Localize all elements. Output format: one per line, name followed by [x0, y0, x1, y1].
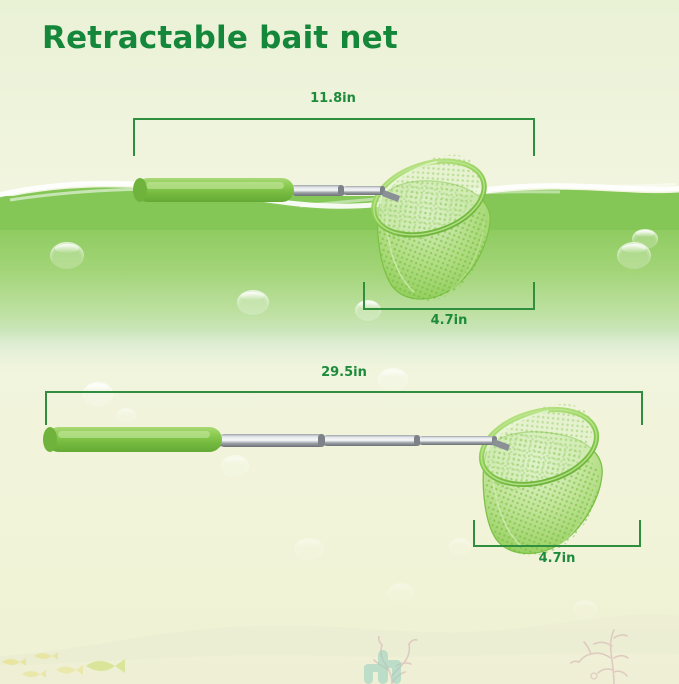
dimension-label-bottom-hoop: 4.7in: [477, 551, 637, 566]
product-infographic: Retractable bait net 11.8in: [0, 0, 679, 684]
dimension-label-bottom-length: 29.5in: [264, 365, 424, 380]
dimension-label-top-hoop: 4.7in: [369, 313, 529, 328]
page-title: Retractable bait net: [42, 20, 398, 56]
dimension-label-top-length: 11.8in: [253, 91, 413, 106]
